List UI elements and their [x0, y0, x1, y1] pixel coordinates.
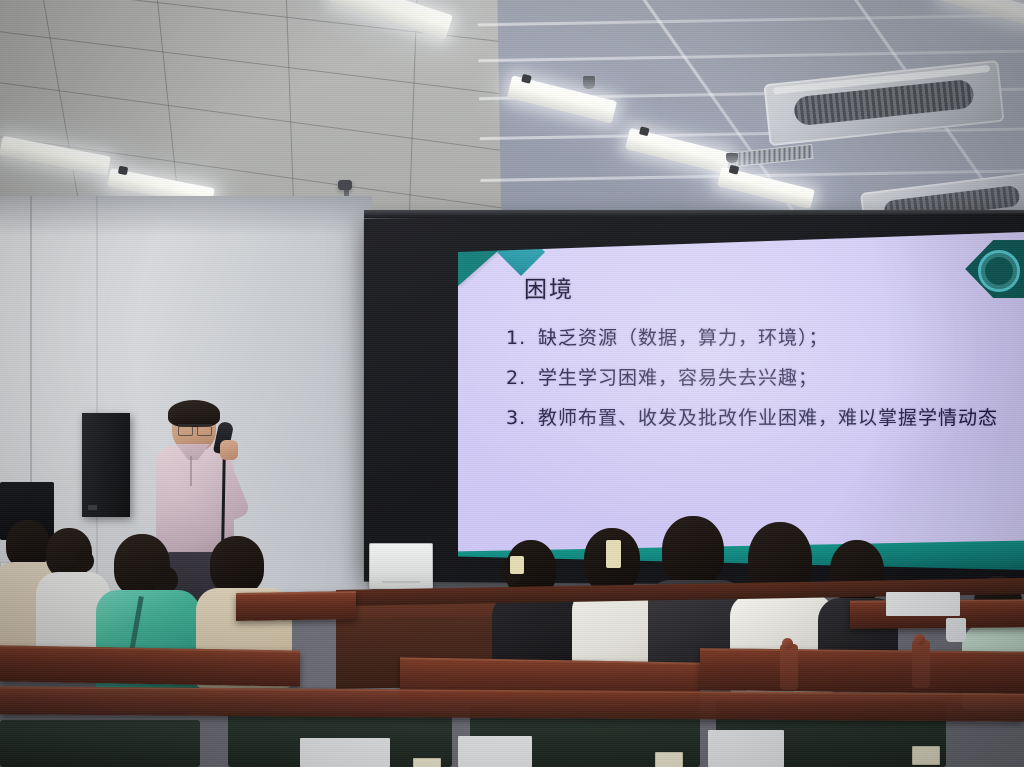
desk-row-front-left	[0, 645, 300, 686]
slide-list-item: 1. 缺乏资源（数据，算力，环境）；	[506, 324, 1006, 353]
desk-paper	[886, 592, 960, 616]
bench-armrest	[912, 640, 930, 688]
seat-number-label	[413, 758, 441, 767]
hair-clip	[606, 540, 621, 568]
emblem-ring-icon	[978, 250, 1020, 292]
laptop-hinge	[382, 581, 419, 583]
tube-bracket	[521, 74, 532, 84]
desk-row-left-2	[236, 591, 356, 621]
slide-emblem-badge	[948, 240, 1024, 298]
presenter-hand	[220, 440, 238, 460]
seat-number-label	[912, 746, 940, 765]
glasses-icon	[178, 424, 212, 434]
desk-paper	[708, 730, 784, 767]
bench-armrest	[780, 644, 798, 690]
slide-list-item: 2. 学生学习困难，容易失去兴趣；	[506, 364, 1006, 393]
floor-standing-loudspeaker	[82, 413, 130, 517]
person-head	[210, 536, 264, 594]
person-hair-bun	[74, 550, 94, 572]
desk-paper	[300, 738, 390, 767]
slide-list-item: 3. 教师布置、收发及批改作业困难，难以掌握学情动态	[506, 404, 1006, 433]
desk-paper	[458, 736, 532, 767]
podium-laptop	[369, 543, 433, 589]
sprinkler-head	[726, 153, 738, 163]
desk-row-front	[0, 686, 1024, 721]
slide-item-text: 学生学习困难，容易失去兴趣；	[538, 364, 1006, 393]
wall-ceiling-shadow	[0, 196, 372, 236]
seat-number-label	[655, 752, 683, 767]
bench-knob	[914, 634, 925, 645]
lecture-hall-photo: 困境 1. 缺乏资源（数据，算力，环境）； 2. 学生学习困难，容易失去兴趣； …	[0, 0, 1024, 767]
bench-knob	[782, 638, 793, 649]
tube-bracket	[729, 165, 740, 175]
slide-item-number: 2.	[506, 364, 538, 393]
presenter-shirt-placket	[190, 456, 192, 486]
hair-clip	[510, 556, 524, 574]
slide-item-text: 缺乏资源（数据，算力，环境）；	[538, 324, 1006, 353]
slide-item-number: 3.	[506, 404, 538, 433]
tube-bracket	[639, 126, 650, 136]
person-head	[662, 516, 724, 586]
desk-row-right-2	[700, 648, 1024, 693]
speaker-led-icon	[88, 505, 97, 510]
slide-item-text: 教师布置、收发及批改作业困难，难以掌握学情动态	[538, 404, 1006, 433]
seat-back	[0, 720, 200, 767]
projector-lens-housing	[338, 180, 352, 190]
desk-cup	[946, 618, 966, 642]
presenter-hair	[168, 400, 220, 427]
sprinkler-head	[583, 76, 595, 89]
slide-item-number: 1.	[506, 324, 538, 353]
tube-bracket	[118, 166, 128, 176]
slide-title: 困境	[524, 270, 574, 304]
slide-bullet-list: 1. 缺乏资源（数据，算力，环境）； 2. 学生学习困难，容易失去兴趣； 3. …	[506, 324, 1006, 444]
